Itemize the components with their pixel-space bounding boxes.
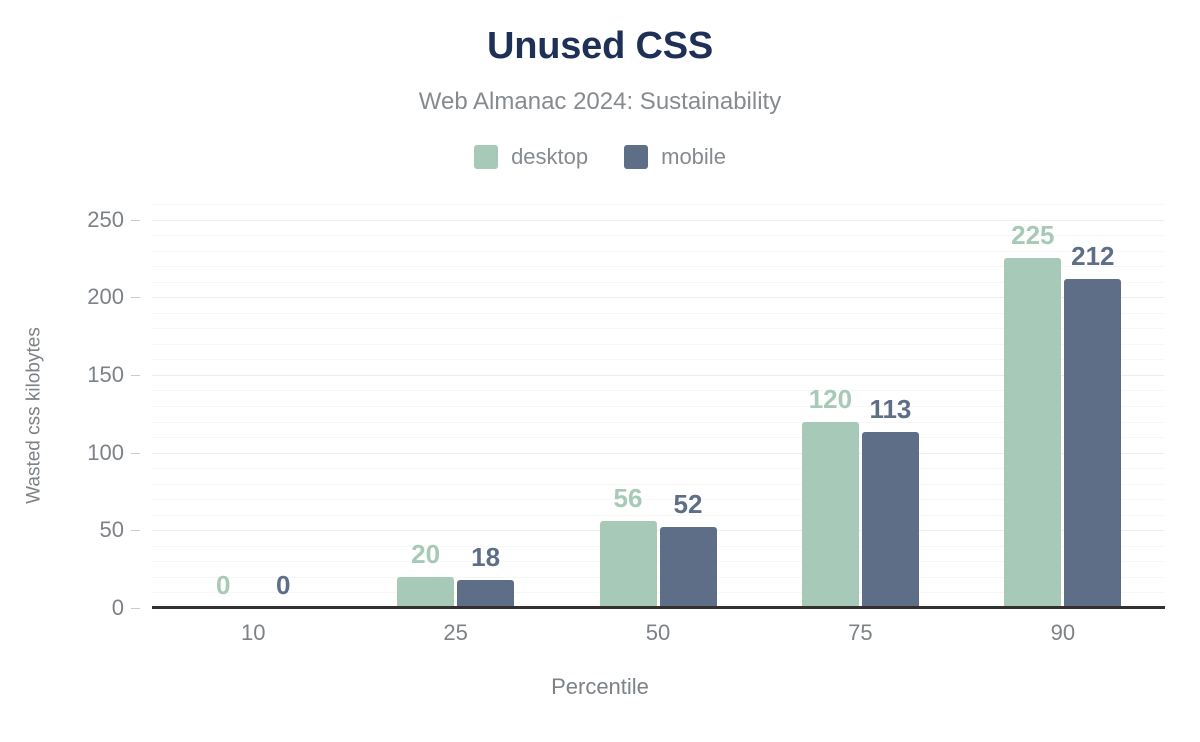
chart-title: Unused CSS — [0, 26, 1200, 68]
x-axis-tick-label: 10 — [152, 614, 354, 654]
bar-rect — [862, 432, 919, 608]
bar-rect — [1064, 279, 1121, 608]
bar-value-label: 0 — [276, 572, 290, 598]
bar-value-label: 225 — [1011, 222, 1054, 248]
legend-swatch-desktop — [474, 145, 498, 169]
y-axis-tick-label: 50 — [100, 519, 124, 541]
bar-value-label: 0 — [216, 572, 230, 598]
bar-rect — [660, 527, 717, 608]
bar-mobile[interactable]: 18 — [457, 204, 514, 608]
legend-swatch-mobile — [624, 145, 648, 169]
x-axis-tick-label: 90 — [962, 614, 1164, 654]
bar-value-label: 18 — [471, 544, 500, 570]
y-axis-tick-label: 250 — [87, 209, 124, 231]
y-axis-tick-mark — [131, 297, 140, 298]
chart-legend: desktop mobile — [0, 142, 1200, 172]
y-axis-tick-mark — [131, 453, 140, 454]
y-axis-tick-mark — [131, 608, 140, 609]
bar-mobile[interactable]: 0 — [255, 204, 312, 608]
chart-container: Unused CSS Web Almanac 2024: Sustainabil… — [0, 0, 1200, 742]
bar-group: 225212 — [962, 204, 1164, 608]
legend-item-mobile[interactable]: mobile — [624, 145, 726, 169]
bar-group: 2018 — [354, 204, 556, 608]
bar-desktop[interactable]: 120 — [802, 204, 859, 608]
bar-value-label: 52 — [674, 491, 703, 517]
bar-rect — [600, 521, 657, 608]
bar-value-label: 113 — [869, 396, 911, 422]
y-axis-tick-label: 0 — [112, 597, 124, 619]
bar-desktop[interactable]: 56 — [600, 204, 657, 608]
x-axis-tick-label: 25 — [354, 614, 556, 654]
y-axis-ticks: 050100150200250 — [0, 204, 140, 608]
legend-label-desktop: desktop — [511, 146, 588, 168]
y-axis-tick-label: 150 — [87, 364, 124, 386]
bar-desktop[interactable]: 20 — [397, 204, 454, 608]
bar-value-label: 120 — [809, 386, 852, 412]
chart-subtitle: Web Almanac 2024: Sustainability — [0, 88, 1200, 116]
y-axis-tick-label: 200 — [87, 286, 124, 308]
y-axis-title: Wasted css kilobytes — [25, 256, 44, 576]
x-axis-baseline — [152, 606, 1165, 609]
bar-rect — [457, 580, 514, 608]
legend-label-mobile: mobile — [661, 146, 726, 168]
bar-desktop[interactable]: 0 — [195, 204, 252, 608]
bar-mobile[interactable]: 212 — [1064, 204, 1121, 608]
bar-desktop[interactable]: 225 — [1004, 204, 1061, 608]
bar-mobile[interactable]: 52 — [660, 204, 717, 608]
bar-value-label: 20 — [411, 541, 440, 567]
bar-group: 120113 — [759, 204, 961, 608]
x-axis-ticks: 1025507590 — [152, 614, 1164, 654]
y-axis-tick-mark — [131, 530, 140, 531]
bar-value-label: 56 — [614, 485, 643, 511]
bar-group: 00 — [152, 204, 354, 608]
bar-groups: 0020185652120113225212 — [152, 204, 1164, 608]
x-axis-title: Percentile — [0, 676, 1200, 698]
x-axis-tick-label: 75 — [759, 614, 961, 654]
bar-rect — [802, 422, 859, 608]
y-axis-tick-label: 100 — [87, 442, 124, 464]
bar-rect — [397, 577, 454, 608]
y-axis-tick-mark — [131, 220, 140, 221]
bar-group: 5652 — [557, 204, 759, 608]
legend-item-desktop[interactable]: desktop — [474, 145, 588, 169]
x-axis-tick-label: 50 — [557, 614, 759, 654]
bar-mobile[interactable]: 113 — [862, 204, 919, 608]
bar-rect — [1004, 258, 1061, 608]
y-axis-tick-mark — [131, 375, 140, 376]
bar-value-label: 212 — [1071, 243, 1114, 269]
